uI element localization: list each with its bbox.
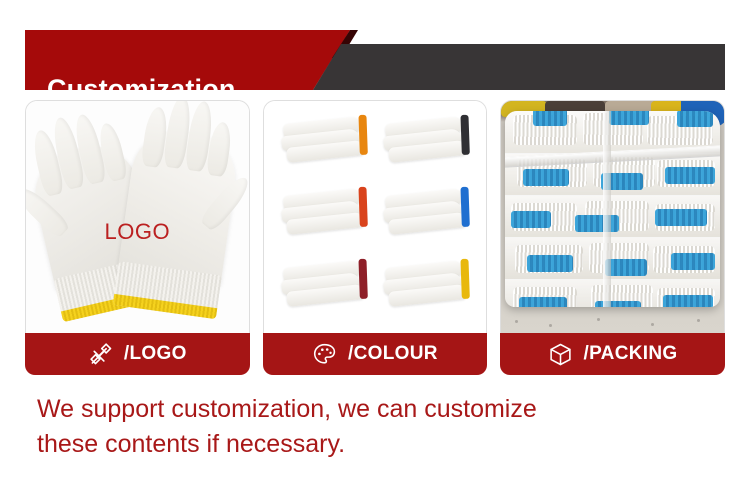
card-colour-label-text: /COLOUR [348, 343, 438, 365]
blue-cuff-cluster [511, 211, 551, 228]
thumb [198, 172, 249, 232]
floor-speck [597, 318, 600, 321]
floor-speck [515, 320, 518, 323]
floor-speck [651, 323, 654, 326]
plastic-wrapped-bale [505, 111, 720, 307]
colour-cell [375, 181, 476, 253]
glove-stack [279, 260, 370, 319]
palette-icon [312, 342, 337, 367]
box-icon [548, 342, 573, 367]
glove-stack [279, 188, 370, 247]
blue-cuff-cluster [523, 169, 569, 186]
customization-note-line-1: We support customization, we can customi… [37, 392, 727, 427]
glove-stack [380, 116, 471, 175]
card-logo[interactable]: LOGO /LOGO [25, 100, 250, 375]
section-banner: Customization [0, 30, 750, 90]
cuff-swatch-yellow [460, 259, 469, 299]
colour-cell [375, 109, 476, 181]
cuff-swatch-dark-red [359, 259, 368, 299]
blue-cuff-cluster [527, 255, 573, 272]
glove-stack [279, 116, 370, 175]
card-colour-label[interactable]: /COLOUR [263, 333, 488, 375]
blue-cuff-cluster [665, 167, 715, 184]
glove-stack [380, 188, 471, 247]
blue-cuff-cluster [609, 111, 649, 125]
glove-colour-grid-photo [264, 101, 487, 333]
cuff-swatch-blue [460, 187, 469, 227]
glove-stack [380, 260, 471, 319]
card-packing[interactable]: /PACKING [500, 100, 725, 375]
colour-cell [375, 253, 476, 325]
colour-cell [274, 181, 375, 253]
blue-cuff-cluster [519, 297, 567, 307]
card-colour[interactable]: /COLOUR [263, 100, 488, 375]
customization-section: Customization [0, 0, 750, 487]
colour-cell [274, 109, 375, 181]
glove-cuff-band [113, 294, 218, 319]
cuff-swatch-orange [359, 115, 368, 155]
card-colour-image [263, 100, 488, 333]
card-packing-label-text: /PACKING [584, 343, 678, 365]
card-logo-label[interactable]: /LOGO [25, 333, 250, 375]
blue-cuff-cluster [655, 209, 707, 226]
customization-note: We support customization, we can customi… [37, 392, 727, 462]
glove-cuff [113, 261, 222, 319]
blue-cuff-cluster [677, 111, 713, 127]
packed-gloves-bale-photo [501, 101, 724, 333]
blue-cuff-cluster [605, 259, 647, 276]
card-packing-image [500, 100, 725, 333]
card-logo-label-text: /LOGO [124, 343, 187, 365]
blue-cuff-cluster [533, 111, 567, 126]
cuff-swatch-red [359, 187, 368, 227]
customization-note-line-2: these contents if necessary. [37, 427, 727, 462]
gloves-with-logo-photo: LOGO [26, 101, 249, 333]
blue-cuff-cluster [671, 253, 715, 270]
pen-tool-icon [88, 342, 113, 367]
cuff-swatch-black [460, 115, 469, 155]
customization-card-row: LOGO /LOGO [25, 100, 725, 375]
blue-cuff-cluster [595, 301, 641, 307]
colour-cell [274, 253, 375, 325]
card-logo-image: LOGO [25, 100, 250, 333]
plastic-strap-vertical [603, 111, 611, 307]
blue-cuff-cluster [663, 295, 713, 307]
card-packing-label[interactable]: /PACKING [500, 333, 725, 375]
blue-cuff-cluster [575, 215, 619, 232]
glove-right [117, 125, 241, 290]
logo-overlay-text: LOGO [105, 219, 171, 245]
floor-speck [549, 324, 552, 327]
floor-speck [697, 319, 700, 322]
